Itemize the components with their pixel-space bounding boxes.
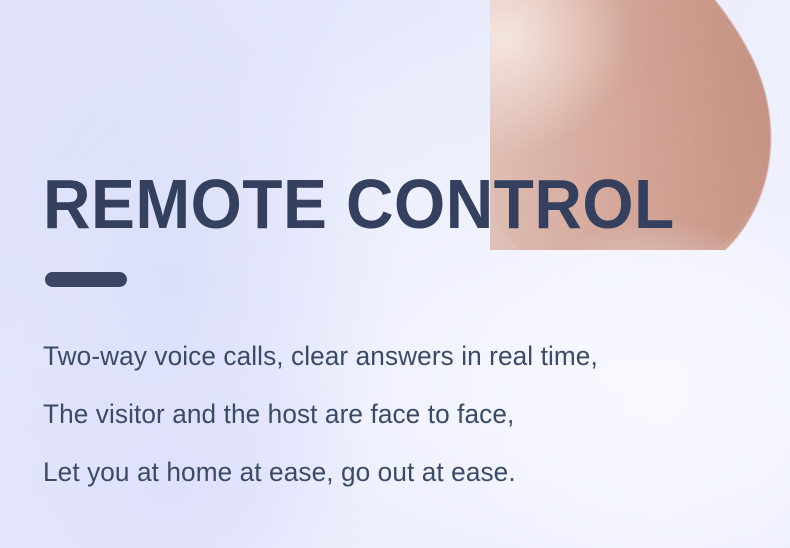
description-block: Two-way voice calls, clear answers in re… [43,327,743,501]
description-line-2: The visitor and the host are face to fac… [43,385,722,443]
description-line-3: Let you at home at ease, go out at ease. [43,443,722,501]
title-divider [45,272,127,287]
page-title: REMOTE CONTROL [43,167,675,241]
description-line-1: Two-way voice calls, clear answers in re… [43,327,722,385]
promo-banner: REMOTE CONTROL Two-way voice calls, clea… [0,0,790,548]
text-content: REMOTE CONTROL Two-way voice calls, clea… [43,0,743,548]
